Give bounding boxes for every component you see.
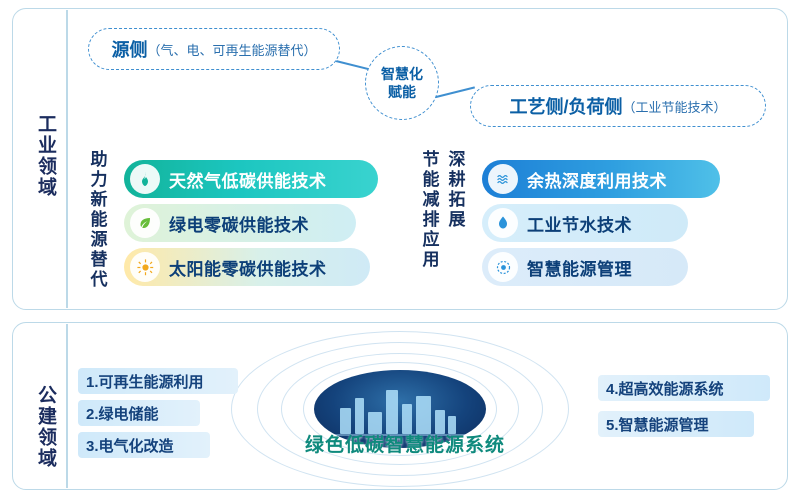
tech-pill-solar-label: 太阳能零碳供能技术	[169, 255, 327, 280]
public-tag-5-label: 5.智慧能源管理	[606, 414, 709, 435]
group-label-energy-saving: 节能减排应用	[420, 150, 442, 270]
group-label-deep-expansion-text: 深耕拓展	[446, 150, 468, 230]
industrial-panel-divider	[66, 10, 68, 308]
smart-enabling-circle[interactable]: 智慧化 赋能	[365, 46, 439, 120]
public-tag-2-label: 2.绿电储能	[86, 403, 159, 424]
public-tag-2[interactable]: 2.绿电储能	[78, 400, 200, 426]
group-label-deep-expansion: 深耕拓展	[446, 150, 468, 230]
ripple-graphic	[230, 330, 570, 488]
public-tag-3-label: 3.电气化改造	[86, 435, 174, 456]
water-drop-icon	[488, 208, 518, 238]
public-tag-1-label: 1.可再生能源利用	[86, 371, 204, 392]
source-side-subtitle: （气、电、可再生能源替代）	[147, 40, 316, 59]
process-side-title: 工艺侧/负荷侧	[509, 93, 622, 119]
public-panel-label: 公建领域	[22, 372, 56, 482]
group-label-new-energy: 助力新能源替代	[88, 150, 110, 290]
process-side-subtitle: （工业节能技术）	[623, 97, 727, 116]
tech-pill-smart-energy-label: 智慧能源管理	[527, 255, 632, 280]
sun-icon	[130, 252, 160, 282]
public-tag-4-label: 4.超高效能源系统	[606, 378, 724, 399]
public-tag-4[interactable]: 4.超高效能源系统	[598, 375, 770, 401]
source-side-title: 源侧	[111, 36, 147, 62]
group-label-new-energy-text: 助力新能源替代	[88, 150, 110, 290]
tech-pill-waste-heat-label: 余热深度利用技术	[527, 167, 667, 192]
flame-icon	[130, 164, 160, 194]
group-label-energy-saving-text: 节能减排应用	[420, 150, 442, 270]
tech-pill-solar[interactable]: 太阳能零碳供能技术	[124, 248, 370, 286]
building-shape	[355, 398, 364, 434]
leaf-icon	[130, 208, 160, 238]
public-tag-5[interactable]: 5.智慧能源管理	[598, 411, 754, 437]
tech-pill-water-saving-label: 工业节水技术	[527, 211, 632, 236]
tech-pill-waste-heat[interactable]: 余热深度利用技术	[482, 160, 720, 198]
tech-pill-green-power[interactable]: 绿电零碳供能技术	[124, 204, 356, 242]
source-side-capsule[interactable]: 源侧 （气、电、可再生能源替代）	[88, 28, 340, 70]
industrial-panel-label: 工业领域	[22, 66, 56, 246]
tech-pill-natural-gas-label: 天然气低碳供能技术	[169, 167, 327, 192]
tech-pill-natural-gas[interactable]: 天然气低碳供能技术	[124, 160, 378, 198]
smart-enabling-line2: 赋能	[388, 83, 416, 101]
building-shape	[386, 390, 398, 434]
heat-wave-icon	[488, 164, 518, 194]
public-tag-1[interactable]: 1.可再生能源利用	[78, 368, 238, 394]
tech-pill-water-saving[interactable]: 工业节水技术	[482, 204, 688, 242]
public-panel-divider	[66, 324, 68, 488]
tech-pill-green-power-label: 绿电零碳供能技术	[169, 211, 309, 236]
bottom-center-title: 绿色低碳智慧能源系统	[300, 430, 510, 457]
smart-enabling-line1: 智慧化	[381, 65, 423, 83]
process-side-capsule[interactable]: 工艺侧/负荷侧 （工业节能技术）	[470, 85, 766, 127]
public-tag-3[interactable]: 3.电气化改造	[78, 432, 210, 458]
tech-pill-smart-energy[interactable]: 智慧能源管理	[482, 248, 688, 286]
building-shape	[416, 396, 431, 434]
smart-gear-icon	[488, 252, 518, 282]
